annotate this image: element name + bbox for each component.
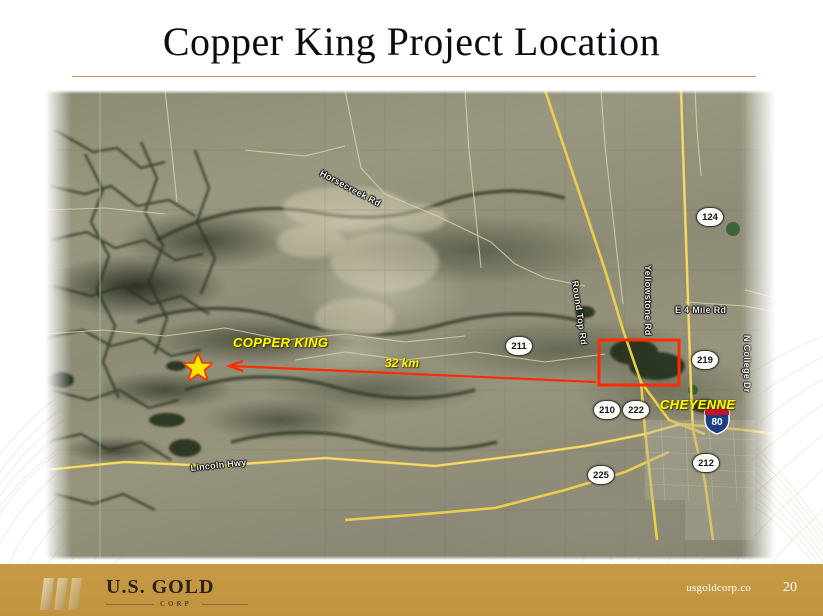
logo-bars-icon: [38, 574, 98, 614]
map-container[interactable]: COPPER KING CHEYENNE 32 km Horsecreek Rd…: [45, 90, 775, 560]
road-label-e-4-mile-rd: E 4 Mile Rd: [675, 305, 726, 315]
route-shield-219: 219: [691, 350, 719, 370]
route-shield-211: 211: [505, 336, 533, 356]
logo-rule-right: [202, 604, 248, 605]
map-distance-label: 32 km: [385, 356, 419, 370]
page-title: Copper King Project Location: [0, 18, 823, 65]
logo-wordmark: U.S. GOLD: [106, 576, 214, 599]
us-gold-corp-logo: U.S. GOLD CORP: [38, 574, 248, 614]
map-place-copper-king: COPPER KING: [233, 335, 328, 350]
route-shield-212: 212: [692, 453, 720, 473]
route-shield-124: 124: [696, 207, 724, 227]
slide-canvas: Copper King Project Location: [0, 0, 823, 616]
route-shield-210: 210: [593, 400, 621, 420]
logo-rule-left: [106, 604, 154, 605]
route-shield-222: 222: [622, 400, 650, 420]
interstate-shield-80: 80: [704, 406, 730, 428]
road-label-yellowstone-rd: Yellowstone Rd: [643, 265, 653, 336]
satellite-map-image: COPPER KING CHEYENNE 32 km Horsecreek Rd…: [45, 90, 775, 560]
logo-sub-wordmark: CORP: [160, 600, 192, 608]
road-label-n-college-dr: N College Dr: [742, 335, 752, 393]
title-underline: [72, 76, 756, 77]
footer-page-number: 20: [783, 580, 797, 596]
footer-website[interactable]: usgoldcorp.co: [686, 582, 751, 594]
map-vector-overlay: [45, 90, 775, 560]
route-shield-225: 225: [587, 465, 615, 485]
star-marker: [185, 355, 211, 379]
slide-footer: U.S. GOLD CORP usgoldcorp.co 20: [0, 564, 823, 616]
